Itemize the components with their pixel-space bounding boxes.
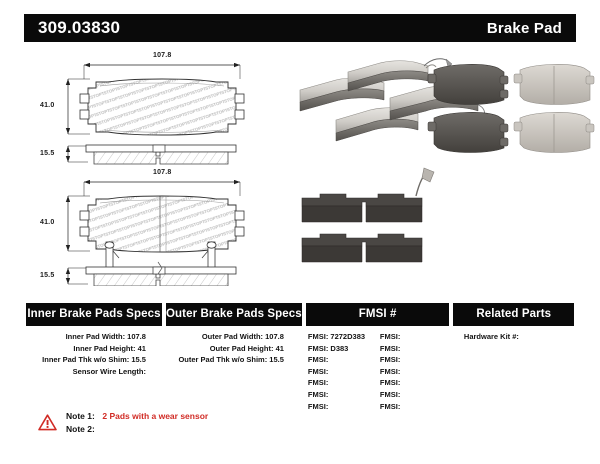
note-2-label: Note 2: <box>66 423 100 436</box>
column-header-fmsi: FMSI # <box>306 303 450 326</box>
inner-pad-face-drawing <box>68 65 244 135</box>
fmsi-label: FMSI: <box>308 355 328 364</box>
fmsi-label: FMSI: <box>308 344 328 353</box>
fmsi-entry: FMSI: <box>380 354 452 366</box>
outer-pad-face-drawing <box>68 182 244 252</box>
inner-pad-thickness-dimension: 15.5 <box>40 150 54 157</box>
warning-triangle-icon <box>38 414 57 436</box>
table-header-row: Inner Brake Pads Specs Outer Brake Pads … <box>26 303 574 326</box>
column-header-related-parts: Related Parts <box>453 303 574 326</box>
outer-pad-height-label: Outer Pad Height: <box>210 344 274 353</box>
pad-photo-edge-2 <box>302 234 422 262</box>
outer-pad-thickness-value: 15.5 <box>269 355 284 364</box>
pad-photo-flat-1 <box>426 64 508 104</box>
fmsi-label: FMSI: <box>380 378 400 387</box>
fmsi-entry: FMSI: 7272D383 <box>308 331 380 343</box>
note-1-label: Note 1: <box>66 410 100 423</box>
inner-pad-width-label: Inner Pad Width: <box>66 332 126 341</box>
fmsi-entry: FMSI: <box>308 401 380 413</box>
pad-photo-flat-3 <box>428 112 508 152</box>
related-parts-cell: Hardware Kit #: <box>456 331 574 412</box>
fmsi-value: D383 <box>330 344 348 353</box>
note-2-line: Note 2: <box>66 423 208 436</box>
outer-pad-thickness-dimension: 15.5 <box>40 272 54 279</box>
pad-photo-flat-grid <box>426 64 594 152</box>
inner-pad-thickness-value: 15.5 <box>131 355 146 364</box>
hardware-kit-label: Hardware Kit #: <box>464 332 519 341</box>
product-photos-panel <box>292 46 600 286</box>
outer-pad-width-label: Outer Pad Width: <box>202 332 263 341</box>
fmsi-value: 7272D383 <box>330 332 365 341</box>
fmsi-entry: FMSI: <box>308 366 380 378</box>
outer-pad-height-value: 41 <box>276 344 284 353</box>
spec-line: Outer Pad Thk w/o Shim: 15.5 <box>164 354 284 366</box>
spec-line: Inner Pad Thk w/o Shim: 15.5 <box>26 354 146 366</box>
fmsi-cell: FMSI: 7272D383 FMSI: D383 FMSI: FMSI: <box>302 331 452 412</box>
header-bar: 309.03830 Brake Pad <box>24 14 576 42</box>
inner-specs-cell: Inner Pad Width: 107.8 Inner Pad Height:… <box>26 331 160 412</box>
notes-section: Note 1: 2 Pads with a wear sensor Note 2… <box>38 410 208 436</box>
part-number: 309.03830 <box>38 18 120 38</box>
fmsi-label: FMSI: <box>380 367 400 376</box>
inner-pad-width-value: 107.8 <box>127 332 146 341</box>
fmsi-entry: FMSI: D383 <box>308 343 380 355</box>
outer-pad-height-dimension: 41.0 <box>40 219 54 226</box>
fmsi-entry: FMSI: <box>380 343 452 355</box>
inner-pad-thickness-label: Inner Pad Thk w/o Shim: <box>42 355 129 364</box>
table-body-row: Inner Pad Width: 107.8 Inner Pad Height:… <box>26 326 574 412</box>
related-part-entry: Hardware Kit #: <box>456 331 574 343</box>
inner-pad-width-dimension: 107.8 <box>153 52 172 59</box>
spec-line: Inner Pad Width: 107.8 <box>26 331 146 343</box>
outer-pad-width-value: 107.8 <box>265 332 284 341</box>
fmsi-label: FMSI: <box>308 402 328 411</box>
spec-line: Outer Pad Width: 107.8 <box>164 331 284 343</box>
inner-pad-side-drawing <box>68 145 236 164</box>
spec-line: Inner Pad Height: 41 <box>26 343 146 355</box>
fmsi-label: FMSI: <box>380 355 400 364</box>
fmsi-entry: FMSI: <box>380 389 452 401</box>
inner-pad-height-label: Inner Pad Height: <box>73 344 135 353</box>
notes-text-block: Note 1: 2 Pads with a wear sensor Note 2… <box>66 410 208 436</box>
spec-line: Sensor Wire Length: <box>26 366 146 378</box>
outer-specs-cell: Outer Pad Width: 107.8 Outer Pad Height:… <box>164 331 298 412</box>
pad-photo-edge-1 <box>302 168 434 222</box>
sensor-wire-length-label: Sensor Wire Length: <box>73 367 146 376</box>
fmsi-label: FMSI: <box>308 367 328 376</box>
fmsi-entry: FMSI: <box>308 389 380 401</box>
column-header-inner-specs: Inner Brake Pads Specs <box>26 303 162 326</box>
fmsi-label: FMSI: <box>308 390 328 399</box>
pad-photo-flat-2 <box>514 64 594 104</box>
fmsi-label: FMSI: <box>308 378 328 387</box>
product-type-label: Brake Pad <box>487 20 562 37</box>
fmsi-column-right: FMSI: FMSI: FMSI: FMSI: <box>380 331 452 412</box>
fmsi-entry: FMSI: <box>380 401 452 413</box>
pad-photo-edge-view-group <box>302 168 434 262</box>
spec-line: Outer Pad Height: 41 <box>164 343 284 355</box>
column-header-outer-specs: Outer Brake Pads Specs <box>166 303 302 326</box>
outer-pad-width-dimension: 107.8 <box>153 169 172 176</box>
fmsi-entry: FMSI: <box>380 331 452 343</box>
fmsi-entry: FMSI: <box>380 377 452 389</box>
fmsi-entry: FMSI: <box>380 366 452 378</box>
fmsi-label: FMSI: <box>380 332 400 341</box>
fmsi-column-left: FMSI: 7272D383 FMSI: D383 FMSI: FMSI: <box>308 331 380 412</box>
note-1-line: Note 1: 2 Pads with a wear sensor <box>66 410 208 423</box>
fmsi-label: FMSI: <box>380 390 400 399</box>
fmsi-label: FMSI: <box>308 332 328 341</box>
fmsi-label: FMSI: <box>380 402 400 411</box>
pad-engineering-drawings-svg: STOPTECH <box>0 46 300 286</box>
fmsi-entry: FMSI: <box>308 377 380 389</box>
note-1-value: 2 Pads with a wear sensor <box>102 411 208 421</box>
specifications-table: Inner Brake Pads Specs Outer Brake Pads … <box>26 303 574 412</box>
technical-drawings-panel: STOPTECH <box>0 46 300 286</box>
fmsi-label: FMSI: <box>380 344 400 353</box>
inner-pad-height-dimension: 41.0 <box>40 102 54 109</box>
pad-photo-flat-4 <box>514 112 594 152</box>
product-photos-svg <box>292 46 600 286</box>
outer-pad-thickness-label: Outer Pad Thk w/o Shim: <box>178 355 267 364</box>
fmsi-entry: FMSI: <box>308 354 380 366</box>
inner-pad-height-value: 41 <box>138 344 146 353</box>
